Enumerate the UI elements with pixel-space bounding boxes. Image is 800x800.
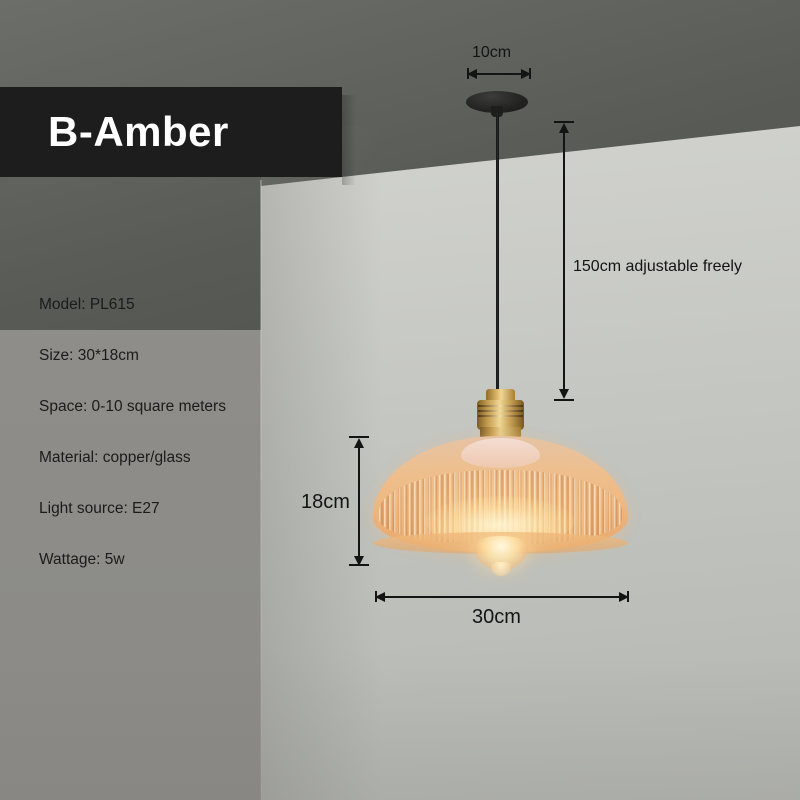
spec-light-source: Light source: E27: [39, 500, 269, 518]
dimension-label-drop-length: 150cm adjustable freely: [573, 258, 742, 276]
specification-list: Model: PL615 Size: 30*18cm Space: 0-10 s…: [39, 296, 269, 602]
canopy-dim-arrow-left: [467, 69, 477, 79]
dimension-label-canopy-width: 10cm: [472, 44, 511, 62]
brass-lamp-socket: [477, 389, 524, 441]
floor-gradient: [0, 650, 800, 800]
height-dim-arrow-up: [354, 438, 364, 448]
dimension-label-shade-height: 18cm: [301, 491, 350, 514]
canopy-dim-line: [471, 73, 527, 75]
shade-neck: [461, 438, 540, 468]
spec-material: Material: copper/glass: [39, 449, 269, 467]
hanging-cord: [496, 112, 499, 395]
variant-label-banner: B-Amber: [0, 87, 342, 177]
height-dim-arrow-down: [354, 556, 364, 566]
variant-label-text: B-Amber: [48, 108, 229, 156]
spec-wattage: Wattage: 5w: [39, 551, 269, 569]
spec-space: Space: 0-10 square meters: [39, 398, 269, 416]
socket-rib-1: [478, 405, 523, 407]
drop-dim-arrow-down: [559, 389, 569, 399]
diameter-dim-arrow-left: [375, 592, 385, 602]
amber-glass-shade: [373, 436, 628, 556]
dimension-label-shade-diameter: 30cm: [472, 606, 521, 629]
product-image: B-Amber Model: PL615 Size: 30*18cm Space…: [0, 0, 800, 800]
height-dim-line: [358, 441, 360, 563]
diameter-dim-arrow-right: [619, 592, 629, 602]
diameter-dim-line: [379, 596, 625, 598]
spec-model: Model: PL615: [39, 296, 269, 314]
socket-rib-3: [478, 415, 523, 417]
drop-dim-arrow-up: [559, 123, 569, 133]
spec-size: Size: 30*18cm: [39, 347, 269, 365]
drop-dim-line: [563, 126, 565, 396]
banner-shadow: [342, 95, 356, 185]
socket-rib-2: [478, 410, 523, 412]
drop-dim-tick-bottom: [554, 399, 574, 401]
canopy-dim-arrow-right: [521, 69, 531, 79]
